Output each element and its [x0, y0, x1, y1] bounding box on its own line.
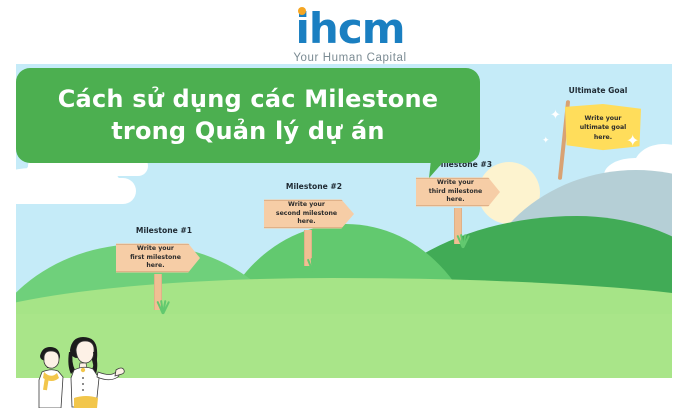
milestone-2-board: Write your second milestone here. [264, 195, 354, 233]
ultimate-goal-flag[interactable]: Ultimate Goal Write your ultimate goal h… [538, 86, 658, 196]
sparkle-icon-left: ✦ [550, 108, 561, 121]
milestone-signpost-1[interactable]: Milestone #1 Write your first milestone … [116, 226, 212, 326]
logo-tagline: Your Human Capital [0, 52, 700, 64]
grass-tuft-3 [452, 230, 474, 248]
child-figure [39, 347, 63, 408]
infographic-page: ihcm Your Human Capital [0, 0, 700, 408]
woman-figure [68, 337, 124, 408]
logo-wordmark: ihcm [296, 8, 405, 50]
people-svg [22, 330, 142, 408]
page-title: Cách sử dụng các Milestone trong Quản lý… [58, 84, 439, 146]
grass-tuft-2 [302, 254, 324, 272]
sparkle-icon-small: ✦ [542, 136, 550, 145]
grass-tuft-1 [152, 296, 174, 314]
title-banner: Cách sử dụng các Milestone trong Quản lý… [16, 68, 480, 163]
milestone-2-label: Milestone #2 [264, 182, 364, 191]
title-banner-tail [429, 160, 455, 178]
milestone-1-text: Write your first milestone here. [126, 245, 190, 272]
brand-logo: ihcm Your Human Capital [0, 8, 700, 64]
milestone-signpost-2[interactable]: Milestone #2 Write your second milestone… [264, 182, 364, 282]
milestone-1-board: Write your first milestone here. [116, 239, 200, 277]
logo-dot-icon [298, 7, 306, 15]
milestone-3-text: Write your third milestone here. [425, 179, 492, 206]
people-illustration [22, 330, 142, 408]
sparkle-icon-right: ✦ [626, 134, 639, 150]
milestone-1-label: Milestone #1 [116, 226, 212, 235]
ultimate-goal-label: Ultimate Goal [538, 86, 658, 95]
milestone-2-text: Write your second milestone here. [272, 201, 346, 228]
milestone-3-board: Write your third milestone here. [416, 173, 500, 211]
ultimate-goal-text: Write your ultimate goal here. [580, 114, 627, 142]
logo-text: ihcm [296, 4, 405, 53]
